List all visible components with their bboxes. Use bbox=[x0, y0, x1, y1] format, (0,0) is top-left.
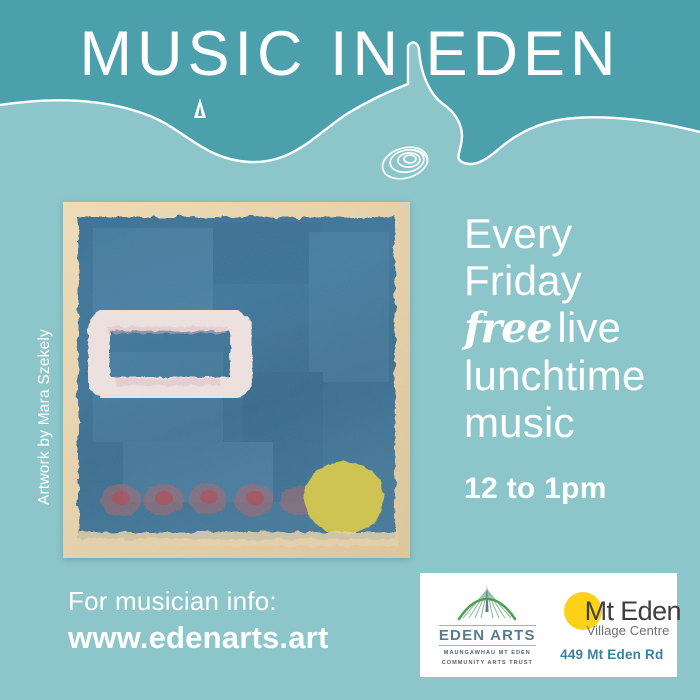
sponsor-logo-panel: EDEN ARTS MAUNGAWHAU MT EDEN COMMUNITY A… bbox=[420, 573, 677, 677]
free-word: free bbox=[464, 304, 551, 352]
eden-arts-mountain-icon bbox=[451, 582, 523, 624]
eden-arts-tagline-line2: COMMUNITY ARTS TRUST bbox=[428, 659, 547, 668]
detail-line-every: Every bbox=[464, 210, 694, 257]
musician-info-block: For musician info: www.edenarts.art bbox=[68, 585, 328, 658]
eden-arts-tagline-line1: MAUNGAWHAU MT EDEN bbox=[428, 649, 547, 658]
detail-line-lunchtime: lunchtime bbox=[464, 352, 694, 399]
mt-eden-wordmark: Mt Eden bbox=[585, 598, 681, 625]
website-url[interactable]: www.edenarts.art bbox=[68, 618, 328, 658]
eden-arts-wordmark: EDEN ARTS bbox=[439, 625, 536, 646]
detail-line-free-live: freelive bbox=[464, 304, 694, 352]
detail-line-music: music bbox=[464, 399, 694, 446]
detail-line-friday: Friday bbox=[464, 257, 694, 304]
artwork-image bbox=[63, 202, 410, 558]
event-time: 12 to 1pm bbox=[464, 472, 694, 506]
event-details-block: Every Friday freelive lunchtime music 12… bbox=[464, 210, 694, 506]
musician-info-label: For musician info: bbox=[68, 585, 328, 618]
poster-title: MUSIC IN EDEN bbox=[0, 23, 700, 86]
mt-eden-subtitle: Village Centre bbox=[587, 624, 670, 637]
mt-eden-village-centre-logo[interactable]: Mt Eden Village Centre 449 Mt Eden Rd bbox=[547, 589, 677, 662]
mt-eden-address: 449 Mt Eden Rd bbox=[547, 647, 677, 662]
poster-canvas: MUSIC IN EDEN bbox=[0, 0, 700, 700]
eden-arts-logo[interactable]: EDEN ARTS MAUNGAWHAU MT EDEN COMMUNITY A… bbox=[420, 582, 547, 667]
live-word: live bbox=[557, 304, 621, 351]
artwork-painting-graphic bbox=[63, 202, 410, 558]
mt-eden-logo-mark: Mt Eden Village Centre bbox=[547, 591, 677, 641]
artwork-credit: Artwork by Mara Szekely bbox=[36, 302, 54, 532]
